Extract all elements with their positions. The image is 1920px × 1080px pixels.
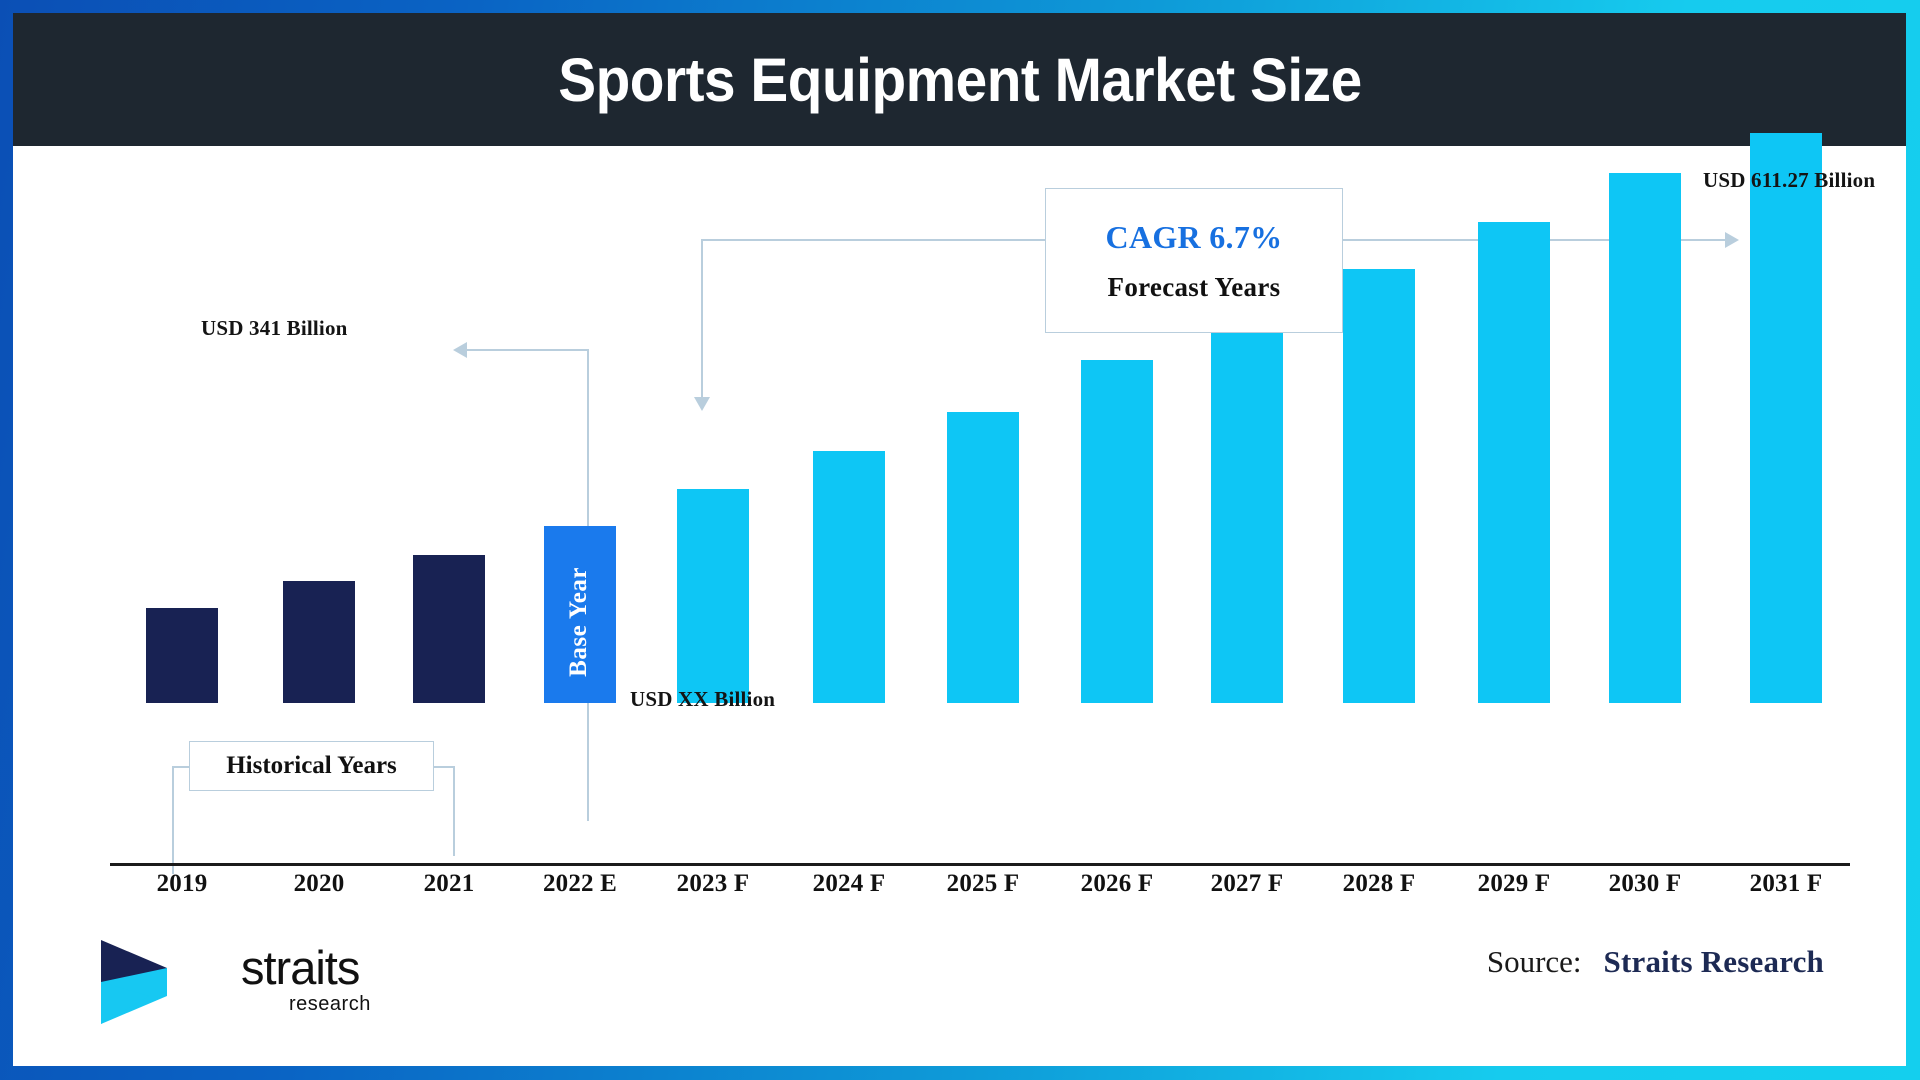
bar-2021: [413, 555, 485, 703]
xlabel-2023: 2023 F: [643, 870, 783, 898]
source-value: Straits Research: [1604, 944, 1824, 980]
cagr-value: CAGR 6.7%: [1106, 219, 1283, 256]
value-label-2022: USD 341 Billion: [201, 316, 348, 341]
bar-2029: [1478, 222, 1550, 703]
bar-2022-base-year: Base Year: [544, 526, 616, 703]
bar-2030: [1609, 173, 1681, 703]
base-year-label: Base Year: [565, 567, 595, 677]
cagr-callout-box: CAGR 6.7% Forecast Years: [1045, 188, 1343, 333]
straits-arrow-icon: [93, 934, 233, 1026]
infographic-page: Sports Equipment Market Size: [13, 13, 1906, 1066]
bar-2026: [1081, 360, 1153, 703]
bar-2024: [813, 451, 885, 703]
xlabel-2028: 2028 F: [1309, 870, 1449, 898]
bar-2025: [947, 412, 1019, 703]
bar-2028: [1343, 269, 1415, 703]
x-axis-line: [110, 863, 1850, 866]
source-attribution: Source: Straits Research: [1487, 944, 1824, 980]
xlabel-2022: 2022 E: [510, 870, 650, 898]
straits-research-logo: straits research: [93, 934, 303, 1026]
source-label: Source:: [1487, 944, 1582, 980]
bar-2019: [146, 608, 218, 703]
gradient-frame: Sports Equipment Market Size: [0, 0, 1920, 1080]
header-bar: Sports Equipment Market Size: [13, 13, 1906, 146]
value-label-2031: USD 611.27 Billion: [1703, 168, 1875, 193]
historical-years-box: Historical Years: [189, 741, 434, 791]
xlabel-2024: 2024 F: [779, 870, 919, 898]
bar-2020: [283, 581, 355, 703]
value-label-2023: USD XX Billion: [630, 687, 775, 712]
logo-subtext: research: [289, 994, 371, 1014]
xlabel-2030: 2030 F: [1575, 870, 1715, 898]
bar-2023: [677, 489, 749, 703]
historical-years-label: Historical Years: [226, 752, 397, 780]
forecast-years-label: Forecast Years: [1108, 272, 1281, 303]
footer: straits research Source: Straits Researc…: [13, 916, 1906, 1066]
bar-2027: [1211, 310, 1283, 703]
xlabel-2025: 2025 F: [913, 870, 1053, 898]
xlabel-2026: 2026 F: [1047, 870, 1187, 898]
xlabel-2021: 2021: [379, 870, 519, 898]
xlabel-2027: 2027 F: [1177, 870, 1317, 898]
xlabel-2029: 2029 F: [1444, 870, 1584, 898]
page-title: Sports Equipment Market Size: [558, 45, 1361, 115]
xlabel-2020: 2020: [249, 870, 389, 898]
logo-wordmark: straits: [241, 944, 359, 991]
xlabel-2031: 2031 F: [1716, 870, 1856, 898]
xlabel-2019: 2019: [112, 870, 252, 898]
bar-2031: [1750, 133, 1822, 703]
